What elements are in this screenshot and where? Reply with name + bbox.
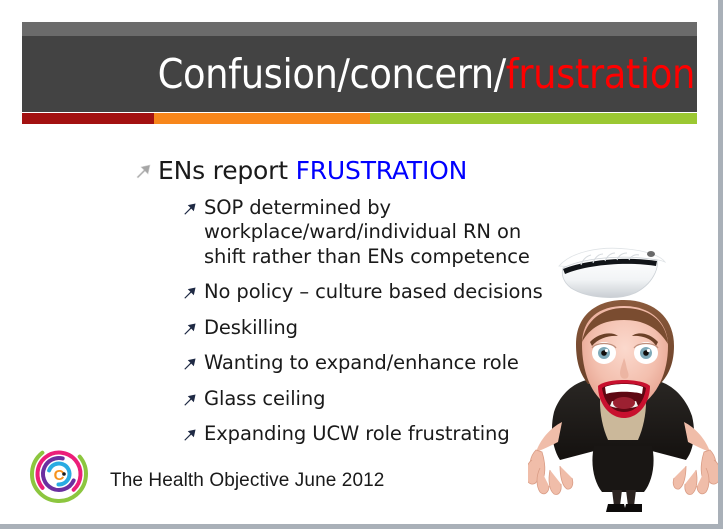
sub-bullet-item-3: Deskilling	[180, 316, 572, 341]
sub-bullet-item-6: Expanding UCW role frustrating	[180, 422, 572, 447]
sub-bullet-text: Expanding UCW role frustrating	[204, 422, 510, 447]
banner-top-strip	[22, 22, 697, 36]
arrow-up-right-icon	[180, 316, 204, 339]
sub-bullet-list: SOP determined by workplace/ward/individ…	[180, 196, 572, 448]
slide-title: Confusion/concern/frustration	[22, 36, 697, 112]
sub-bullet-item-5: Glass ceiling	[180, 387, 572, 412]
presentation-slide: Confusion/concern/frustration ENs report…	[0, 0, 723, 529]
accent-segment-green	[370, 113, 697, 124]
sub-bullet-text: No policy – culture based decisions	[204, 280, 543, 305]
sub-bullet-item-4: Wanting to expand/enhance role	[180, 351, 572, 376]
sub-bullet-text: Wanting to expand/enhance role	[204, 351, 519, 376]
bullet-level1-highlight: FRUSTRATION	[296, 156, 468, 185]
title-banner: Confusion/concern/frustration	[22, 22, 697, 112]
arrow-up-right-icon	[180, 387, 204, 410]
sub-bullet-item-1: SOP determined by workplace/ward/individ…	[180, 196, 572, 270]
accent-color-bar	[22, 113, 697, 124]
arrow-up-right-icon	[180, 196, 204, 219]
nurse-cap-photo	[553, 246, 669, 304]
logo-letter: C	[54, 467, 65, 484]
accent-segment-orange	[154, 113, 370, 124]
footer-text: The Health Objective June 2012	[110, 470, 384, 492]
bullet-item-level1: ENs report FRUSTRATION	[132, 156, 572, 186]
sub-bullet-text: SOP determined by workplace/ward/individ…	[204, 196, 549, 270]
arrow-up-right-icon	[180, 351, 204, 374]
arrow-up-right-icon	[180, 280, 204, 303]
sub-bullet-text: Deskilling	[204, 316, 298, 341]
slide-title-white-part: Confusion/concern	[158, 54, 494, 95]
arrow-up-right-icon	[132, 156, 158, 183]
bullet-level1-lead: ENs report	[158, 156, 296, 185]
sub-bullet-text: Glass ceiling	[204, 387, 325, 412]
arrow-up-right-icon	[180, 422, 204, 445]
bullet-level1-text: ENs report FRUSTRATION	[158, 156, 467, 186]
slide-title-separator: /	[494, 54, 506, 95]
health-objective-logo: C	[28, 443, 90, 505]
accent-segment-red	[22, 113, 154, 124]
bullet-list: ENs report FRUSTRATION SOP determined by…	[132, 156, 572, 458]
sub-bullet-item-2: No policy – culture based decisions	[180, 280, 572, 305]
slide-title-red-part: frustration	[506, 54, 695, 95]
screaming-woman-photo	[528, 300, 718, 522]
